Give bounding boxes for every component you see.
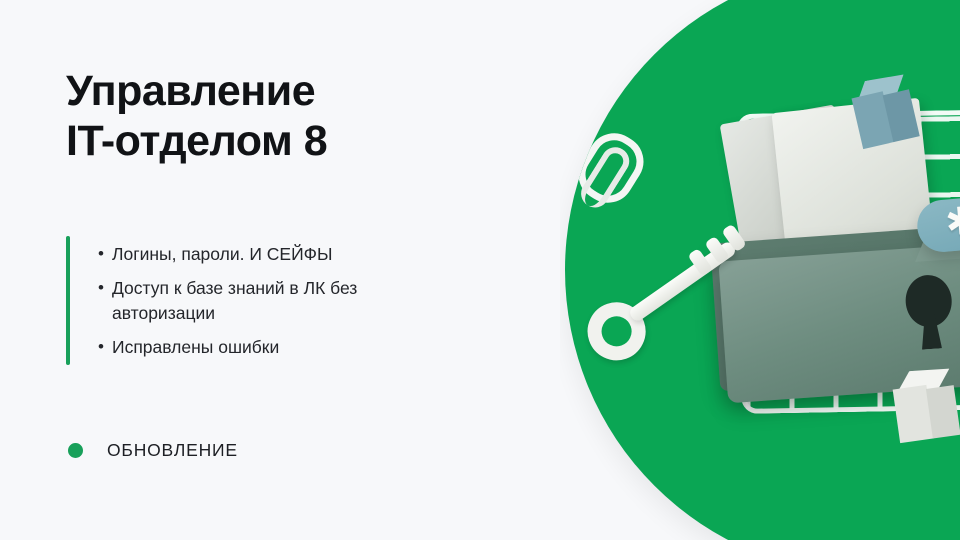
list-item: • Доступ к базе знаний в ЛК без авториза… xyxy=(98,276,458,326)
blue-cube-icon xyxy=(848,71,923,149)
green-circle-backdrop: ✱ ✱ ✱ xyxy=(565,0,960,540)
presentation-slide: Управление IT-отделом 8 • Логины, пароли… xyxy=(0,0,960,540)
list-item: • Исправлены ошибки xyxy=(98,335,458,360)
bullet-dot-icon: • xyxy=(98,335,112,359)
password-mask-char: ✱ xyxy=(944,202,960,243)
list-item-label: Исправлены ошибки xyxy=(112,335,458,360)
feature-list-items: • Логины, пароли. И СЕЙФЫ • Доступ к баз… xyxy=(70,236,458,365)
paperclip-icon xyxy=(569,123,654,212)
status-badge: ОБНОВЛЕНИЕ xyxy=(68,440,238,461)
list-item-label: Доступ к базе знаний в ЛК без авторизаци… xyxy=(112,276,458,326)
title-line-1: Управление xyxy=(66,66,526,116)
list-item-label: Логины, пароли. И СЕЙФЫ xyxy=(112,242,458,267)
feature-list: • Логины, пароли. И СЕЙФЫ • Доступ к баз… xyxy=(66,236,496,365)
page-title: Управление IT-отделом 8 xyxy=(66,66,526,167)
keyhole-icon xyxy=(904,274,955,351)
list-item: • Логины, пароли. И СЕЙФЫ xyxy=(98,242,458,267)
white-cube-icon xyxy=(890,365,960,443)
status-dot-icon xyxy=(68,443,83,458)
title-line-2: IT-отделом 8 xyxy=(66,116,526,166)
bullet-dot-icon: • xyxy=(98,242,112,266)
status-badge-label: ОБНОВЛЕНИЕ xyxy=(107,440,238,461)
cube-right-face xyxy=(926,385,960,438)
bullet-dot-icon: • xyxy=(98,276,112,300)
security-folder-illustration: ✱ ✱ ✱ xyxy=(560,0,960,540)
